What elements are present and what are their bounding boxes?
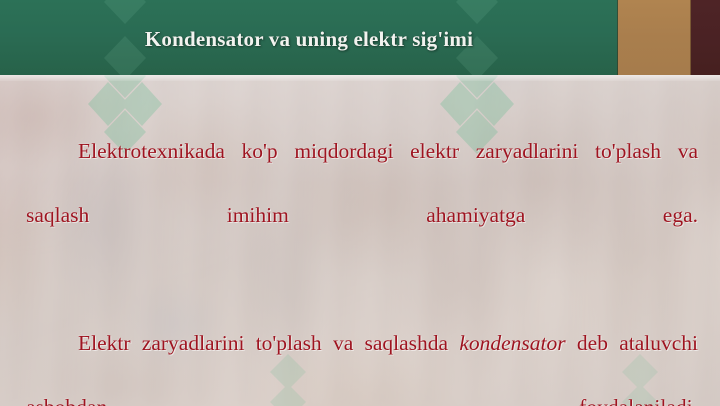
slide-header-bar: Kondensator va uning elektr sig'imi [0, 0, 618, 75]
header-accent-band-tan [618, 0, 691, 75]
slide-body: Elektrotexnikada ko'p miqdordagi elektr … [0, 75, 720, 406]
body-paragraph-1-text: Elektrotexnikada ko'p miqdordagi elektr … [26, 139, 698, 227]
header-accent-band-maroon [691, 0, 720, 75]
page-title: Kondensator va uning elektr sig'imi [145, 24, 473, 52]
header-band-divider [690, 0, 691, 75]
body-paragraph-2: Elektr zaryadlarini to'plash va saqlashd… [26, 311, 698, 406]
body-paragraph-1: Elektrotexnikada ko'p miqdordagi elektr … [26, 119, 698, 311]
body-term-kondensator: kondensator [459, 331, 565, 355]
header-band-divider [617, 0, 618, 75]
body-paragraph-2-lead: Elektr zaryadlarini to'plash va saqlashd… [78, 331, 448, 355]
presentation-slide: Kondensator va uning elektr sig'imi Elek… [0, 0, 720, 406]
